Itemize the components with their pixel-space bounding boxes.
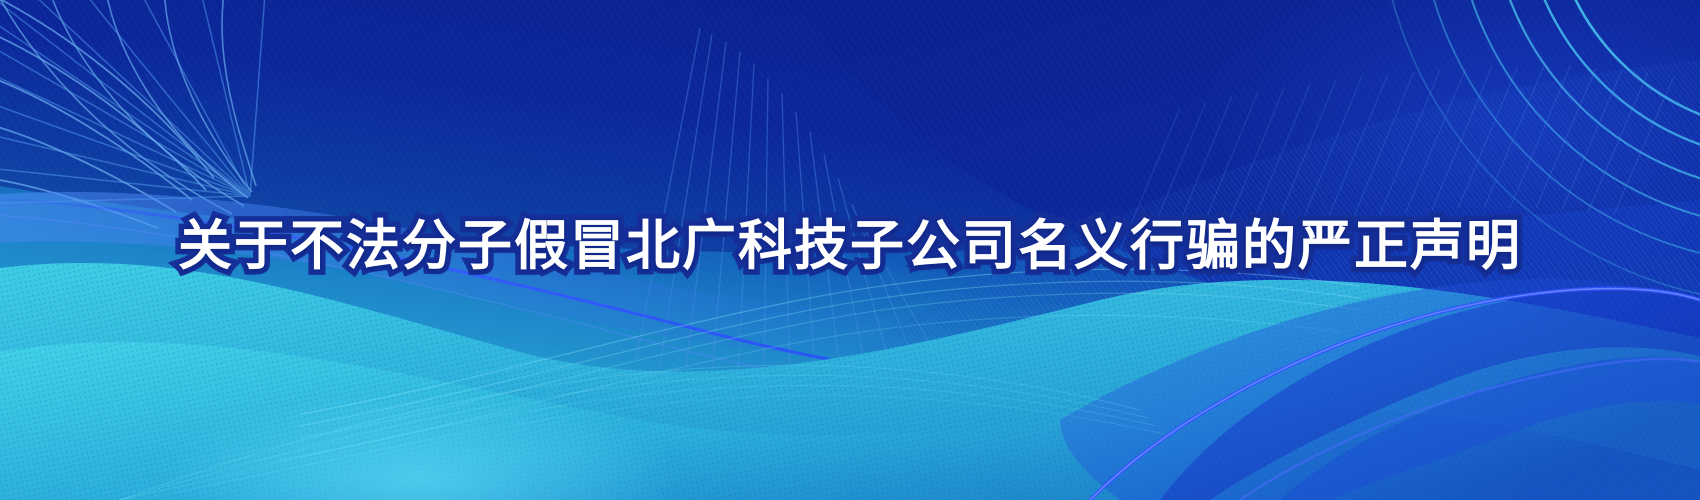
promo-banner: 关于不法分子假冒北广科技子公司名义行骗的严正声明: [0, 0, 1700, 500]
page-title: 关于不法分子假冒北广科技子公司名义行骗的严正声明: [178, 219, 1522, 273]
banner-title-container: 关于不法分子假冒北广科技子公司名义行骗的严正声明: [0, 0, 1700, 500]
